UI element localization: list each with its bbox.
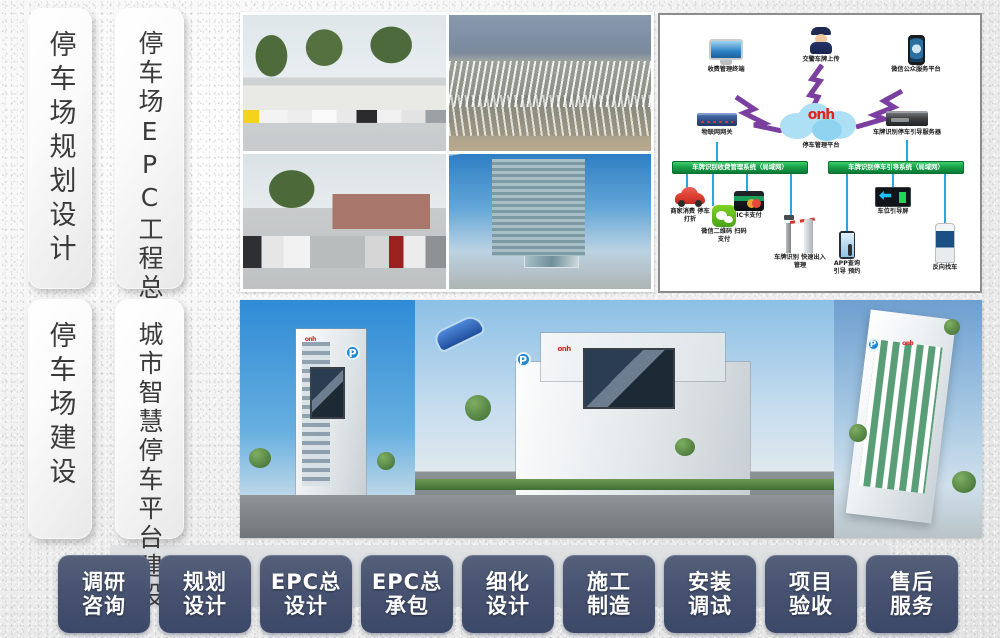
process-step-line2: 验收 bbox=[789, 594, 833, 618]
red-car-icon bbox=[675, 187, 705, 207]
service-card-parking-planning-design[interactable]: 停车场规划设计 bbox=[28, 8, 92, 289]
process-step-line1: 项目 bbox=[789, 570, 833, 594]
diagram-leaf-label: 微信二维码 扫码支付 bbox=[700, 228, 748, 244]
process-step-epc-design[interactable]: EPC总 设计 bbox=[260, 555, 352, 633]
blue-car-graphic bbox=[434, 315, 483, 351]
process-step-line2: 咨询 bbox=[82, 594, 126, 618]
diagram-node-label: 物联网网关 bbox=[688, 129, 746, 137]
connector-wire bbox=[746, 174, 748, 192]
led-billboard bbox=[310, 367, 345, 419]
parking-p-badge: P bbox=[867, 338, 880, 351]
connector-wire bbox=[716, 142, 718, 161]
diagram-leaf-reverse-car-finding: 反向找车 bbox=[928, 223, 962, 272]
connector-wire bbox=[790, 174, 792, 216]
router-icon bbox=[697, 113, 737, 128]
building-shape bbox=[846, 310, 956, 524]
process-step-line2: 制造 bbox=[587, 594, 631, 618]
parking-p-badge: P bbox=[516, 352, 531, 367]
process-step-line2: 服务 bbox=[890, 594, 934, 618]
tree-icon bbox=[377, 452, 395, 470]
process-step-planning-design[interactable]: 规划 设计 bbox=[159, 555, 251, 633]
system-architecture-diagram: onh 停车管理平台 收费管理终端 交警车牌上传 bbox=[658, 13, 982, 293]
service-card-smart-parking-platform[interactable]: 城市智慧停车平台建设 bbox=[115, 299, 184, 539]
diagram-leaf-label: APP查询 引导 预约 bbox=[830, 260, 864, 276]
diagram-node-lpr-guidance-server: 车牌识别停车引导服务器 bbox=[866, 111, 948, 137]
tree-icon bbox=[465, 395, 491, 421]
process-step-line2: 设计 bbox=[486, 594, 530, 618]
barrier-gate-icon bbox=[783, 215, 817, 253]
brand-logo-text: onh bbox=[778, 107, 864, 123]
connector-wire bbox=[944, 174, 946, 226]
led-billboard bbox=[583, 348, 675, 410]
brand-logo-text: onh bbox=[902, 340, 913, 347]
poster-canvas: 停车场规划设计 停车场EPC工程总承包 停车场建设 城市智慧停车平台建设 bbox=[0, 0, 1000, 638]
diagram-node-label: 微信公众服务平台 bbox=[878, 66, 954, 74]
process-step-line1: 规划 bbox=[183, 570, 227, 594]
process-step-epc-contracting[interactable]: EPC总 承包 bbox=[361, 555, 453, 633]
process-step-installation-commissioning[interactable]: 安装 调试 bbox=[664, 555, 756, 633]
connector-wire bbox=[846, 174, 848, 232]
process-step-bar: 调研 咨询 规划 设计 EPC总 设计 EPC总 承包 细化 设计 施工 制造 … bbox=[58, 555, 958, 633]
server-icon bbox=[886, 111, 928, 128]
road-surface bbox=[415, 495, 834, 538]
process-step-line2: 调试 bbox=[688, 594, 732, 618]
ic-card-icon bbox=[734, 191, 764, 211]
process-step-construction-manufacturing[interactable]: 施工 制造 bbox=[563, 555, 655, 633]
tree-icon bbox=[849, 424, 867, 442]
service-card-parking-epc-contracting[interactable]: 停车场EPC工程总承包 bbox=[115, 8, 184, 289]
photo-aerial-view-parking-lot bbox=[449, 15, 652, 151]
photo-street-level-parking-lot bbox=[243, 15, 446, 151]
led-guide-screen-icon bbox=[875, 187, 911, 207]
landscape-strip bbox=[415, 479, 834, 491]
kiosk-icon bbox=[935, 223, 955, 263]
render-aerial-parking-tower: onh P bbox=[834, 300, 982, 538]
diagram-leaf-app-query-guidance: APP查询 引导 预约 bbox=[830, 231, 864, 276]
photo-glass-office-tower bbox=[449, 154, 652, 290]
process-step-line1: 调研 bbox=[82, 570, 126, 594]
process-step-detailed-design[interactable]: 细化 设计 bbox=[462, 555, 554, 633]
diagram-node-cloud-platform: onh 停车管理平台 bbox=[778, 99, 864, 150]
connector-wire bbox=[892, 174, 894, 188]
diagram-leaf-label: 反向找车 bbox=[928, 264, 962, 272]
tree-icon bbox=[944, 319, 960, 335]
brand-logo-text: onh bbox=[305, 336, 316, 343]
photo-grid bbox=[240, 12, 654, 292]
diagram-node-wechat-service-platform: 微信公众服务平台 bbox=[878, 35, 954, 74]
photo-parking-lot-brick-building bbox=[243, 154, 446, 290]
diagram-node-label: 停车管理平台 bbox=[778, 142, 864, 150]
diagram-leaf-label: 车位引导屏 bbox=[874, 208, 912, 216]
process-step-line2: 设计 bbox=[284, 594, 328, 618]
brand-logo-text: onh bbox=[557, 345, 570, 353]
monitor-icon bbox=[709, 39, 743, 65]
tree-icon bbox=[952, 471, 976, 493]
connector-wire bbox=[906, 140, 908, 161]
process-step-line1: 细化 bbox=[486, 570, 530, 594]
police-officer-icon bbox=[810, 27, 832, 55]
service-card-label: 停车场建设 bbox=[47, 321, 74, 491]
diagram-node-label: 车牌识别停车引导服务器 bbox=[866, 129, 948, 137]
system-bar-lpr-parking-guidance: 车牌识别停车引导系统（局域网） bbox=[828, 161, 964, 174]
process-step-after-sales-service[interactable]: 售后 服务 bbox=[866, 555, 958, 633]
diagram-leaf-space-guide-screen: 车位引导屏 bbox=[874, 187, 912, 216]
tree-icon bbox=[249, 448, 271, 468]
mobile-app-icon bbox=[839, 231, 855, 259]
process-step-project-acceptance[interactable]: 项目 验收 bbox=[765, 555, 857, 633]
diagram-leaf-lpr-fast-access: 车牌识别 快速出入管理 bbox=[774, 215, 826, 270]
diagram-leaf-label: IC卡支付 bbox=[732, 212, 766, 220]
smartphone-icon bbox=[908, 35, 925, 65]
system-bar-lpr-charging-management: 车牌识别收费管理系统（局域网） bbox=[672, 161, 808, 174]
diagram-node-label: 收费管理终端 bbox=[696, 66, 756, 74]
process-step-line1: 施工 bbox=[587, 570, 631, 594]
render-strip: onh P onh P onh P bbox=[240, 300, 982, 538]
process-step-line1: EPC总 bbox=[372, 570, 442, 594]
connector-wire bbox=[712, 174, 714, 206]
process-step-research-consulting[interactable]: 调研 咨询 bbox=[58, 555, 150, 633]
process-step-line1: 安装 bbox=[688, 570, 732, 594]
process-step-line1: 售后 bbox=[890, 570, 934, 594]
cloud-icon: onh bbox=[778, 99, 864, 141]
render-parking-garage-building: onh P bbox=[415, 300, 834, 538]
road-surface bbox=[240, 495, 415, 538]
tree-icon bbox=[675, 438, 695, 456]
diagram-node-label: 交警车牌上传 bbox=[792, 56, 850, 64]
process-step-line1: EPC总 bbox=[271, 570, 341, 594]
diagram-node-traffic-police-upload: 交警车牌上传 bbox=[792, 27, 850, 64]
diagram-node-iot-gateway: 物联网网关 bbox=[688, 113, 746, 137]
service-card-column: 停车场规划设计 停车场EPC工程总承包 停车场建设 城市智慧停车平台建设 bbox=[0, 0, 232, 545]
process-step-line2: 承包 bbox=[385, 594, 429, 618]
connector-wire bbox=[686, 174, 688, 188]
process-step-line2: 设计 bbox=[183, 594, 227, 618]
diagram-node-charging-terminal: 收费管理终端 bbox=[696, 39, 756, 74]
service-card-parking-construction[interactable]: 停车场建设 bbox=[28, 299, 92, 539]
service-card-label: 停车场规划设计 bbox=[47, 30, 74, 268]
diagram-leaf-label: 车牌识别 快速出入管理 bbox=[774, 254, 826, 270]
diagram-leaf-ic-card-payment: IC卡支付 bbox=[732, 191, 766, 220]
render-mechanical-parking-tower: onh P bbox=[240, 300, 415, 538]
